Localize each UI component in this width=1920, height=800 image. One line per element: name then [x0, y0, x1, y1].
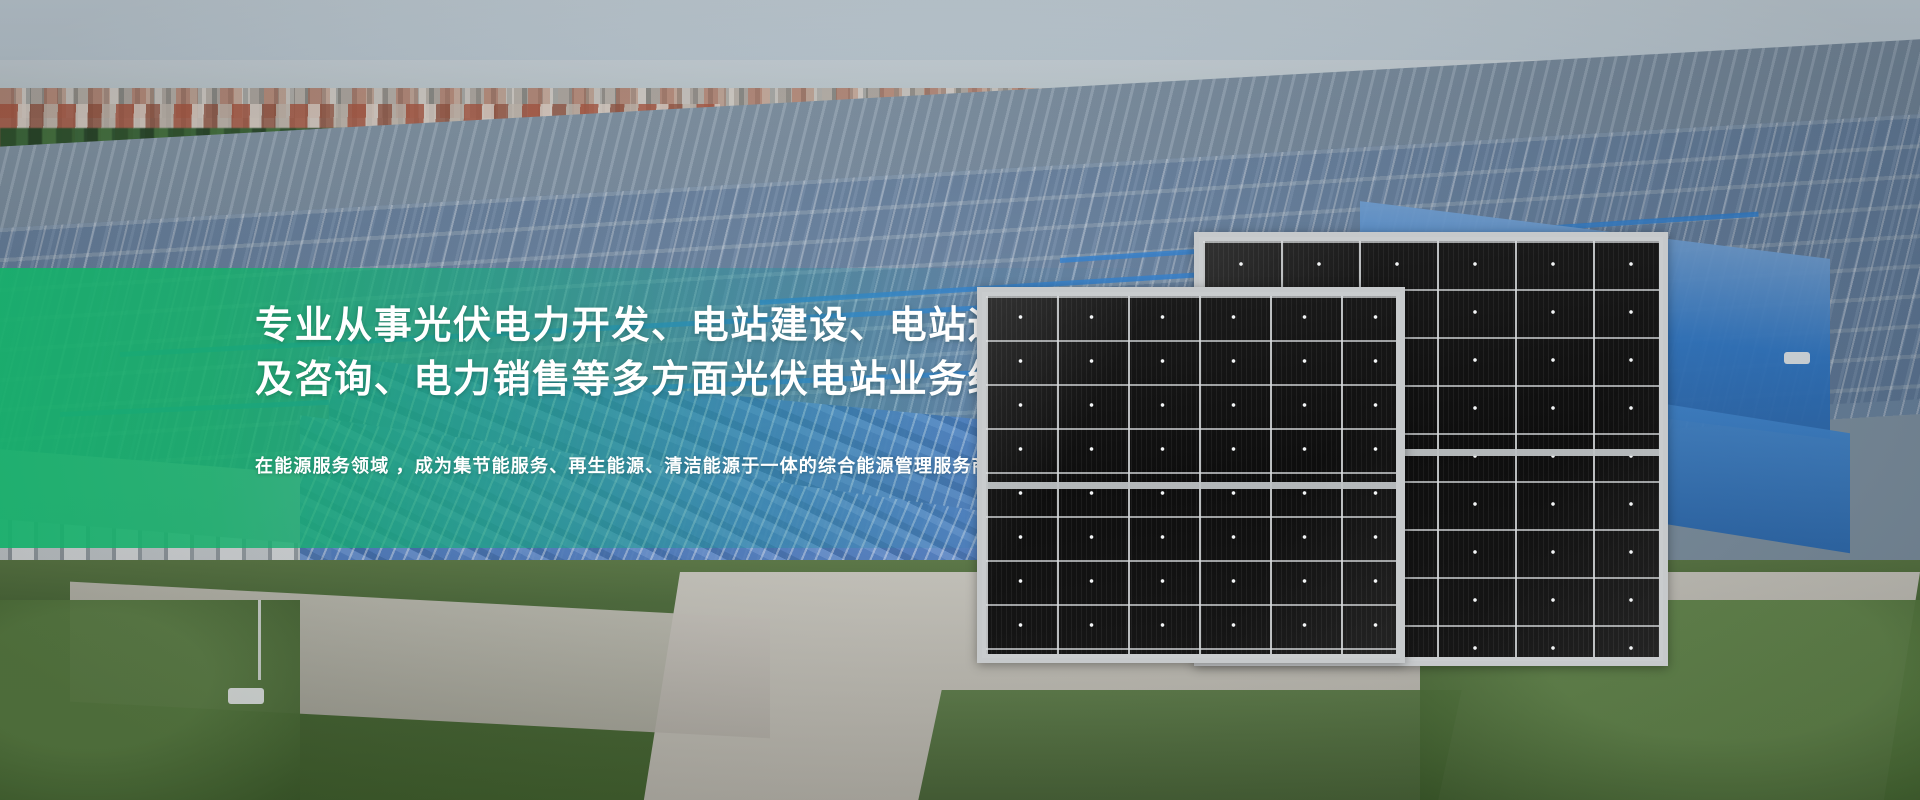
- light-pole: [258, 600, 261, 680]
- panel-glass-reflection: [986, 296, 1396, 654]
- parked-vehicle: [228, 688, 264, 704]
- parked-vehicle: [1784, 352, 1810, 364]
- lawn-middle: [918, 690, 1461, 800]
- panel-glass: [986, 296, 1396, 654]
- hero-banner: 专业从事光伏电力开发、电站建设、电站运维、电站设计 及咨询、电力销售等多方面光伏…: [0, 0, 1920, 800]
- solar-panel-front: [977, 287, 1405, 663]
